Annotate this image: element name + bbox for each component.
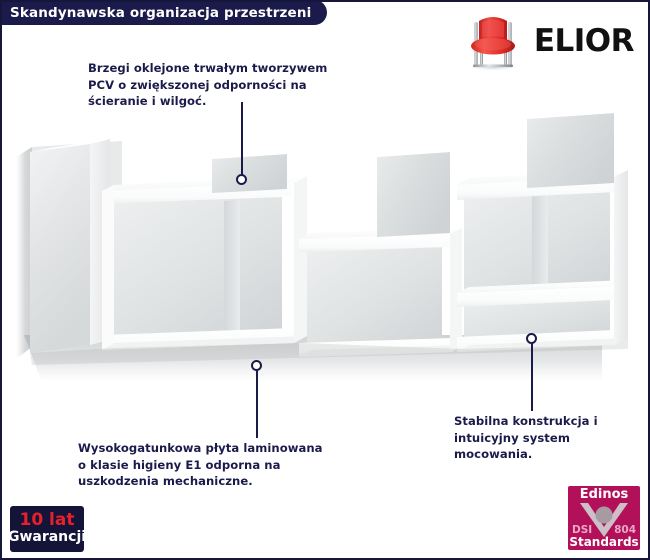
callout-edge-banding-text: Brzegi oklejone trwałym tworzywem PCV o …: [88, 60, 388, 110]
edinos-standards-label: Standards: [568, 535, 640, 549]
warranty-years-label: 10 lat: [19, 512, 74, 530]
callout-laminated-board: Wysokogatunkowa płyta laminowana o klasi…: [78, 440, 398, 490]
callout-edge-banding: Brzegi oklejone trwałym tworzywem PCV o …: [88, 60, 388, 110]
product-illustration: [2, 97, 650, 397]
edinos-title-label: Edinos: [568, 487, 640, 502]
callout-stable-construction-text: Stabilna konstrukcja i intuicyjny system…: [454, 413, 644, 463]
header-banner-title: Skandynawska organizacja przestrzeni: [10, 5, 311, 21]
callout-stable-construction: Stabilna konstrukcja i intuicyjny system…: [454, 413, 644, 463]
warranty-badge: 10 lat Gwarancji: [10, 506, 84, 552]
edinos-certification-badge: Edinos DSI 804 Standards: [568, 486, 640, 550]
callout-laminated-board-text: Wysokogatunkowa płyta laminowana o klasi…: [78, 440, 398, 490]
brand-wordmark: ELIOR: [534, 26, 634, 57]
red-chair-icon: [460, 10, 526, 72]
header-banner: Skandynawska organizacja przestrzeni: [0, 0, 327, 25]
product-infographic: Skandynawska organizacja przestrzeni: [0, 0, 650, 560]
brand-logo: ELIOR: [460, 10, 634, 72]
warranty-word-label: Gwarancji: [8, 530, 86, 545]
